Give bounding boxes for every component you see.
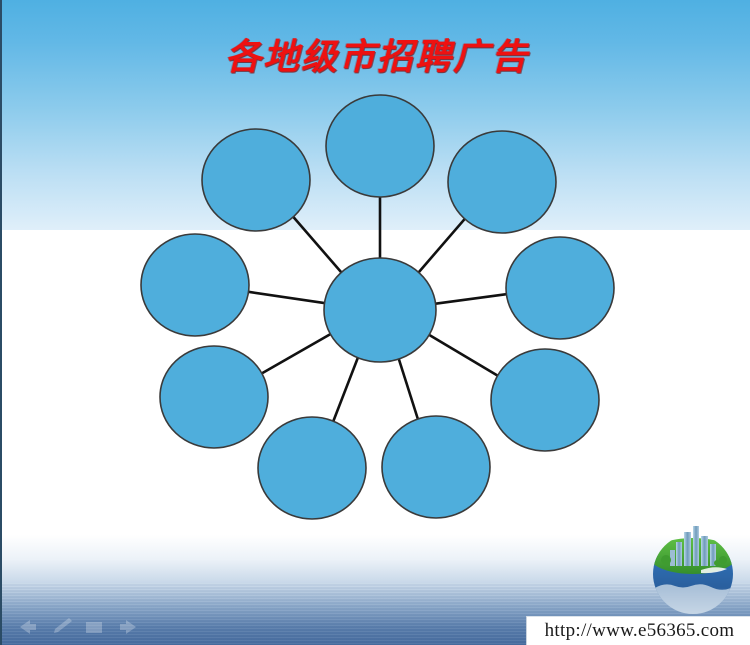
outer-node-4[interactable] (491, 349, 599, 451)
outer-node-8[interactable] (141, 234, 249, 336)
spoke-line-4 (429, 335, 497, 376)
spoke-line-2 (419, 219, 465, 272)
spoke-line-7 (262, 334, 331, 373)
spoke-line-5 (399, 359, 418, 419)
center-node-group (324, 258, 436, 362)
earth-city-globe-logo (639, 516, 747, 616)
watermark-url: http://www.e56365.com (545, 620, 735, 642)
outer-node-5[interactable] (382, 416, 490, 518)
spoke-line-3 (436, 294, 507, 304)
spoke-line-9 (293, 217, 341, 272)
outer-node-3[interactable] (506, 237, 614, 339)
site-watermark: http://www.e56365.com (526, 616, 750, 645)
outer-node-9[interactable] (202, 129, 310, 231)
outer-node-6[interactable] (258, 417, 366, 519)
slide-canvas: 各地级市招聘广告 (0, 0, 750, 645)
spoke-line-6 (333, 358, 358, 421)
outer-node-2[interactable] (448, 131, 556, 233)
spoke-line-8 (249, 292, 325, 303)
outer-node-7[interactable] (160, 346, 268, 448)
outer-node-1[interactable] (326, 95, 434, 197)
radial-diagram (2, 0, 750, 645)
center-node[interactable] (324, 258, 436, 362)
